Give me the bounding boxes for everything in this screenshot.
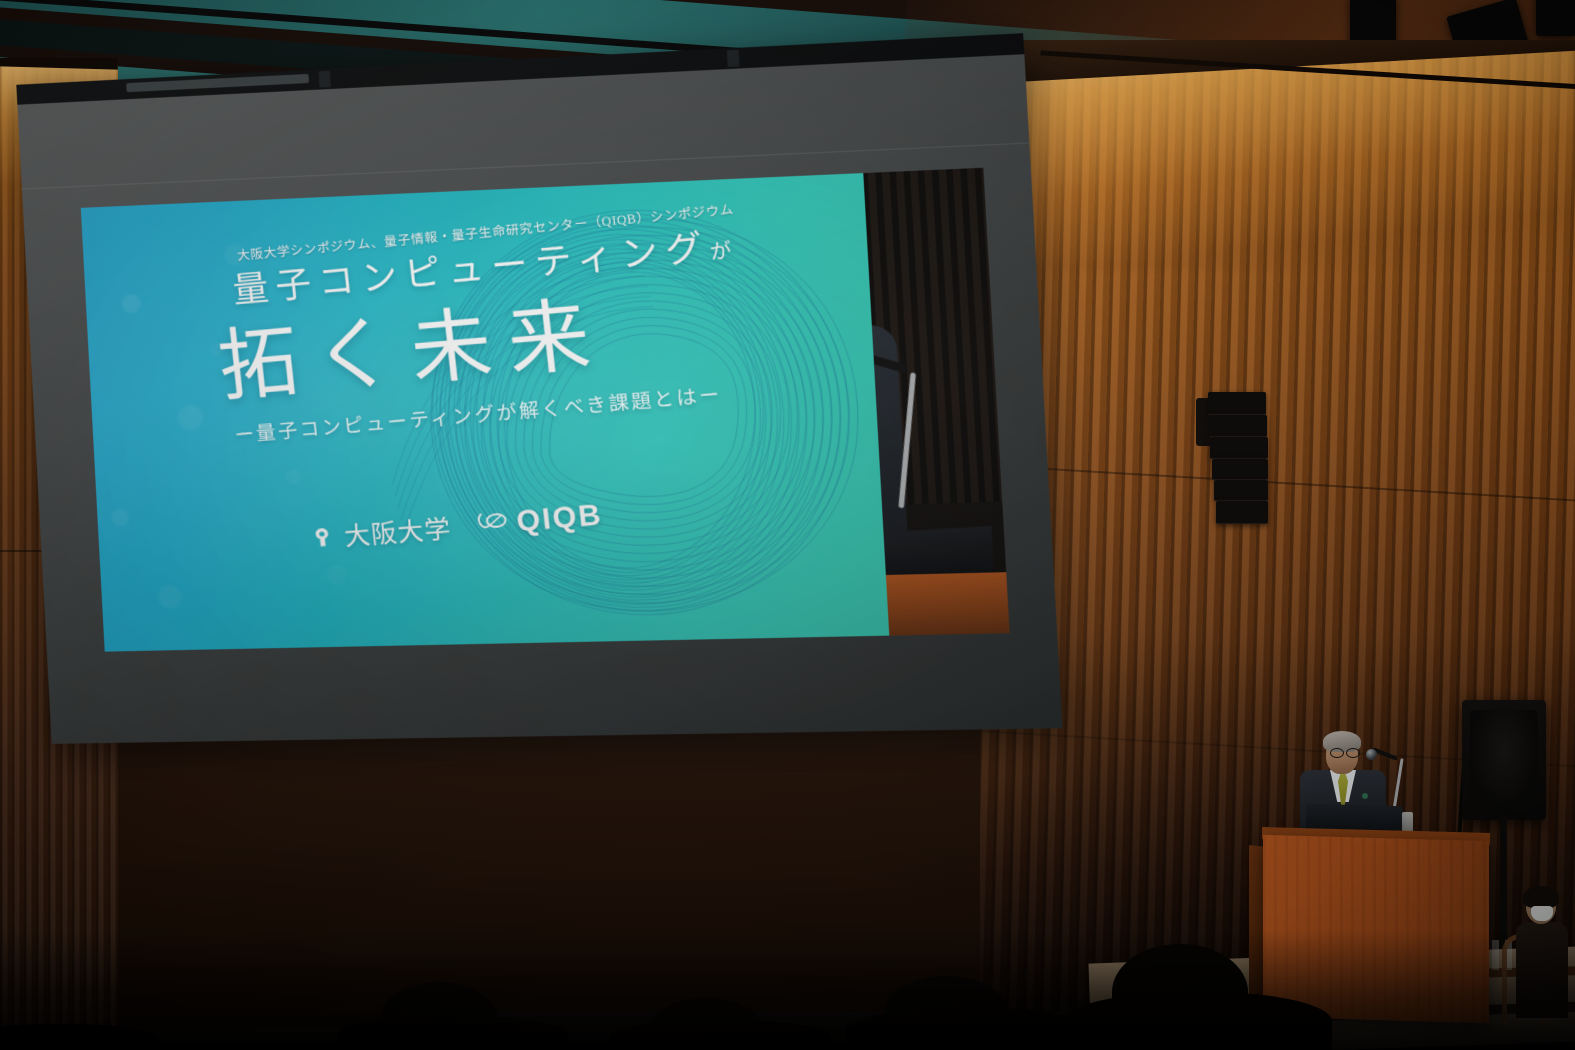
speaker-lapel-pin <box>1362 793 1368 799</box>
presentation-slide: 大阪大学シンポジウム、量子情報・量子生命研究センター（QIQB）シンポジウム 量… <box>81 173 890 652</box>
video-feed-frame <box>863 168 1009 636</box>
slide-title-line1-suffix: が <box>709 240 733 265</box>
screen-mount-bracket <box>319 71 331 88</box>
audience-member-head <box>650 998 762 1050</box>
audience-member-head <box>380 982 498 1050</box>
speaker-module <box>1210 437 1268 459</box>
stage-light-fixture <box>1536 0 1575 36</box>
screen-mount-bracket <box>727 50 740 67</box>
osaka-university-mark-icon <box>308 524 336 551</box>
projection-screen: 大阪大学シンポジウム、量子情報・量子生命研究センター（QIQB）シンポジウム 量… <box>16 33 1062 744</box>
speaker-module <box>1214 480 1268 501</box>
speaker-glasses-right <box>1346 748 1360 758</box>
seated-attendee <box>1510 890 1568 1020</box>
projected-image: 大阪大学シンポジウム、量子情報・量子生命研究センター（QIQB）シンポジウム 量… <box>81 168 1010 652</box>
qiqb-mark-icon <box>475 508 511 539</box>
attendee-hair <box>1523 886 1559 908</box>
speaker-glasses-left <box>1330 748 1344 758</box>
line-array-speaker <box>1208 392 1270 527</box>
audience-member-shoulders <box>0 1024 160 1050</box>
auditorium-scene: 大阪大学シンポジウム、量子情報・量子生命研究センター（QIQB）シンポジウム 量… <box>0 0 1575 1050</box>
live-video-feed <box>863 168 1009 636</box>
pa-floor-speaker <box>1462 700 1546 820</box>
podium-microphone-head-icon <box>1366 749 1377 760</box>
speaker-grille <box>1470 710 1538 808</box>
speaker-module <box>1212 459 1268 480</box>
speaker-module <box>1209 415 1267 437</box>
speaker-module <box>1216 501 1268 524</box>
audience-member-head <box>1112 944 1248 1040</box>
podium-wood-grain <box>1263 835 1489 1023</box>
podium <box>1263 835 1489 1023</box>
face-mask-icon <box>1531 906 1553 921</box>
qiqb-logo-text: QIQB <box>515 498 605 539</box>
audience-member-head <box>884 976 1008 1050</box>
attendee-torso <box>1516 922 1568 1018</box>
speaker-module <box>1208 392 1266 415</box>
